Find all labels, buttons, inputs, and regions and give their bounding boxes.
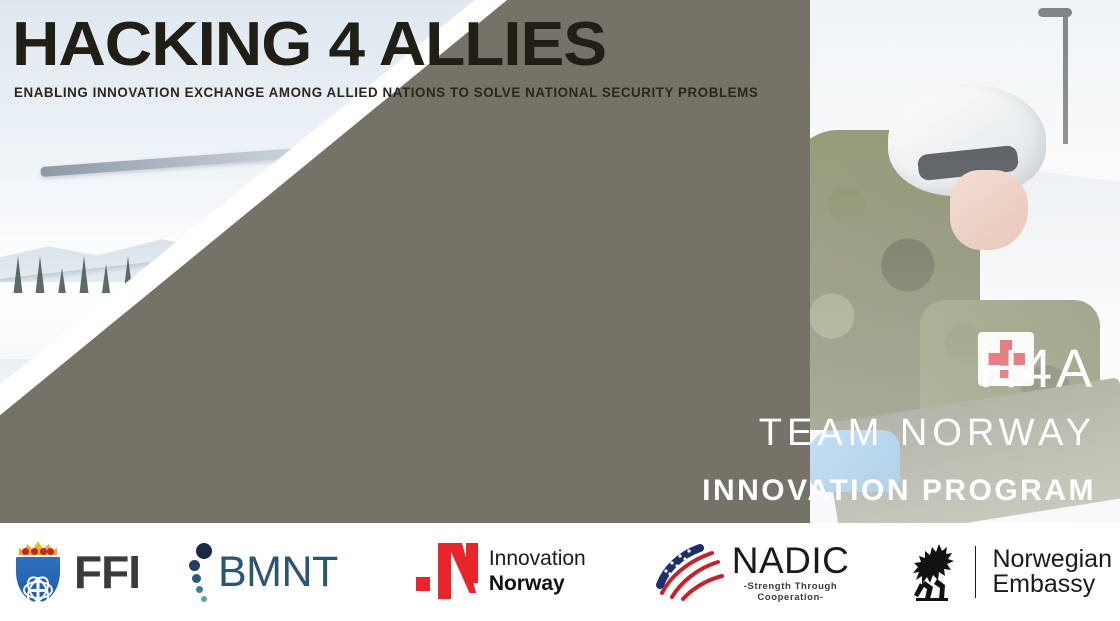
logo-nadic[interactable]: NADIC -Strength Through Cooperation-	[586, 523, 850, 621]
partner-logo-bar: FFI BMNT Innovation Norway	[0, 523, 1120, 621]
logo-ffi[interactable]: FFI	[0, 523, 140, 621]
bmnt-wordmark: BMNT	[218, 551, 338, 594]
logo-bmnt[interactable]: BMNT	[140, 523, 338, 621]
ffi-wordmark: FFI	[74, 549, 140, 595]
medic-in-snow-photo	[800, 0, 1120, 523]
logo-innovation-norway[interactable]: Innovation Norway	[338, 523, 586, 621]
innovation-norway-mark-icon	[416, 543, 478, 601]
nadic-name: NADIC	[732, 542, 850, 579]
nadic-tagline: -Strength Through Cooperation-	[732, 581, 850, 603]
bmnt-dots-icon	[188, 541, 214, 603]
norway-line: Norway	[489, 572, 586, 597]
logo-norwegian-embassy[interactable]: Norwegian Embassy	[849, 523, 1120, 621]
snow-haze-overlay	[800, 0, 1120, 523]
innovation-line: Innovation	[489, 547, 586, 572]
norwegian-lion-icon	[911, 541, 959, 603]
headline-block: HACKING 4 ALLIES ENABLING INNOVATION EXC…	[12, 14, 762, 100]
ffi-shield-icon	[10, 540, 66, 604]
h4a-team-norway-poster: H4A TEAM NORWAY INNOVATION PROGRAM HACKI…	[0, 0, 1120, 621]
banner-area: H4A TEAM NORWAY INNOVATION PROGRAM HACKI…	[0, 0, 1120, 523]
innovation-norway-wordmark: Innovation Norway	[489, 547, 586, 597]
lion-svg	[911, 541, 959, 603]
norwegian-embassy-wordmark: Norwegian Embassy	[992, 547, 1120, 597]
page-subtitle: ENABLING INNOVATION EXCHANGE AMONG ALLIE…	[14, 85, 758, 100]
nadic-globe-svg	[656, 541, 726, 603]
shield-body	[14, 555, 62, 604]
red-square-dot	[416, 577, 430, 591]
nadic-wordmark: NADIC -Strength Through Cooperation-	[732, 542, 850, 603]
sword-icon	[37, 577, 40, 613]
red-bar	[466, 543, 478, 583]
nadic-globe-icon	[656, 541, 726, 603]
page-title: HACKING 4 ALLIES	[12, 14, 807, 76]
logo-divider	[975, 546, 976, 598]
